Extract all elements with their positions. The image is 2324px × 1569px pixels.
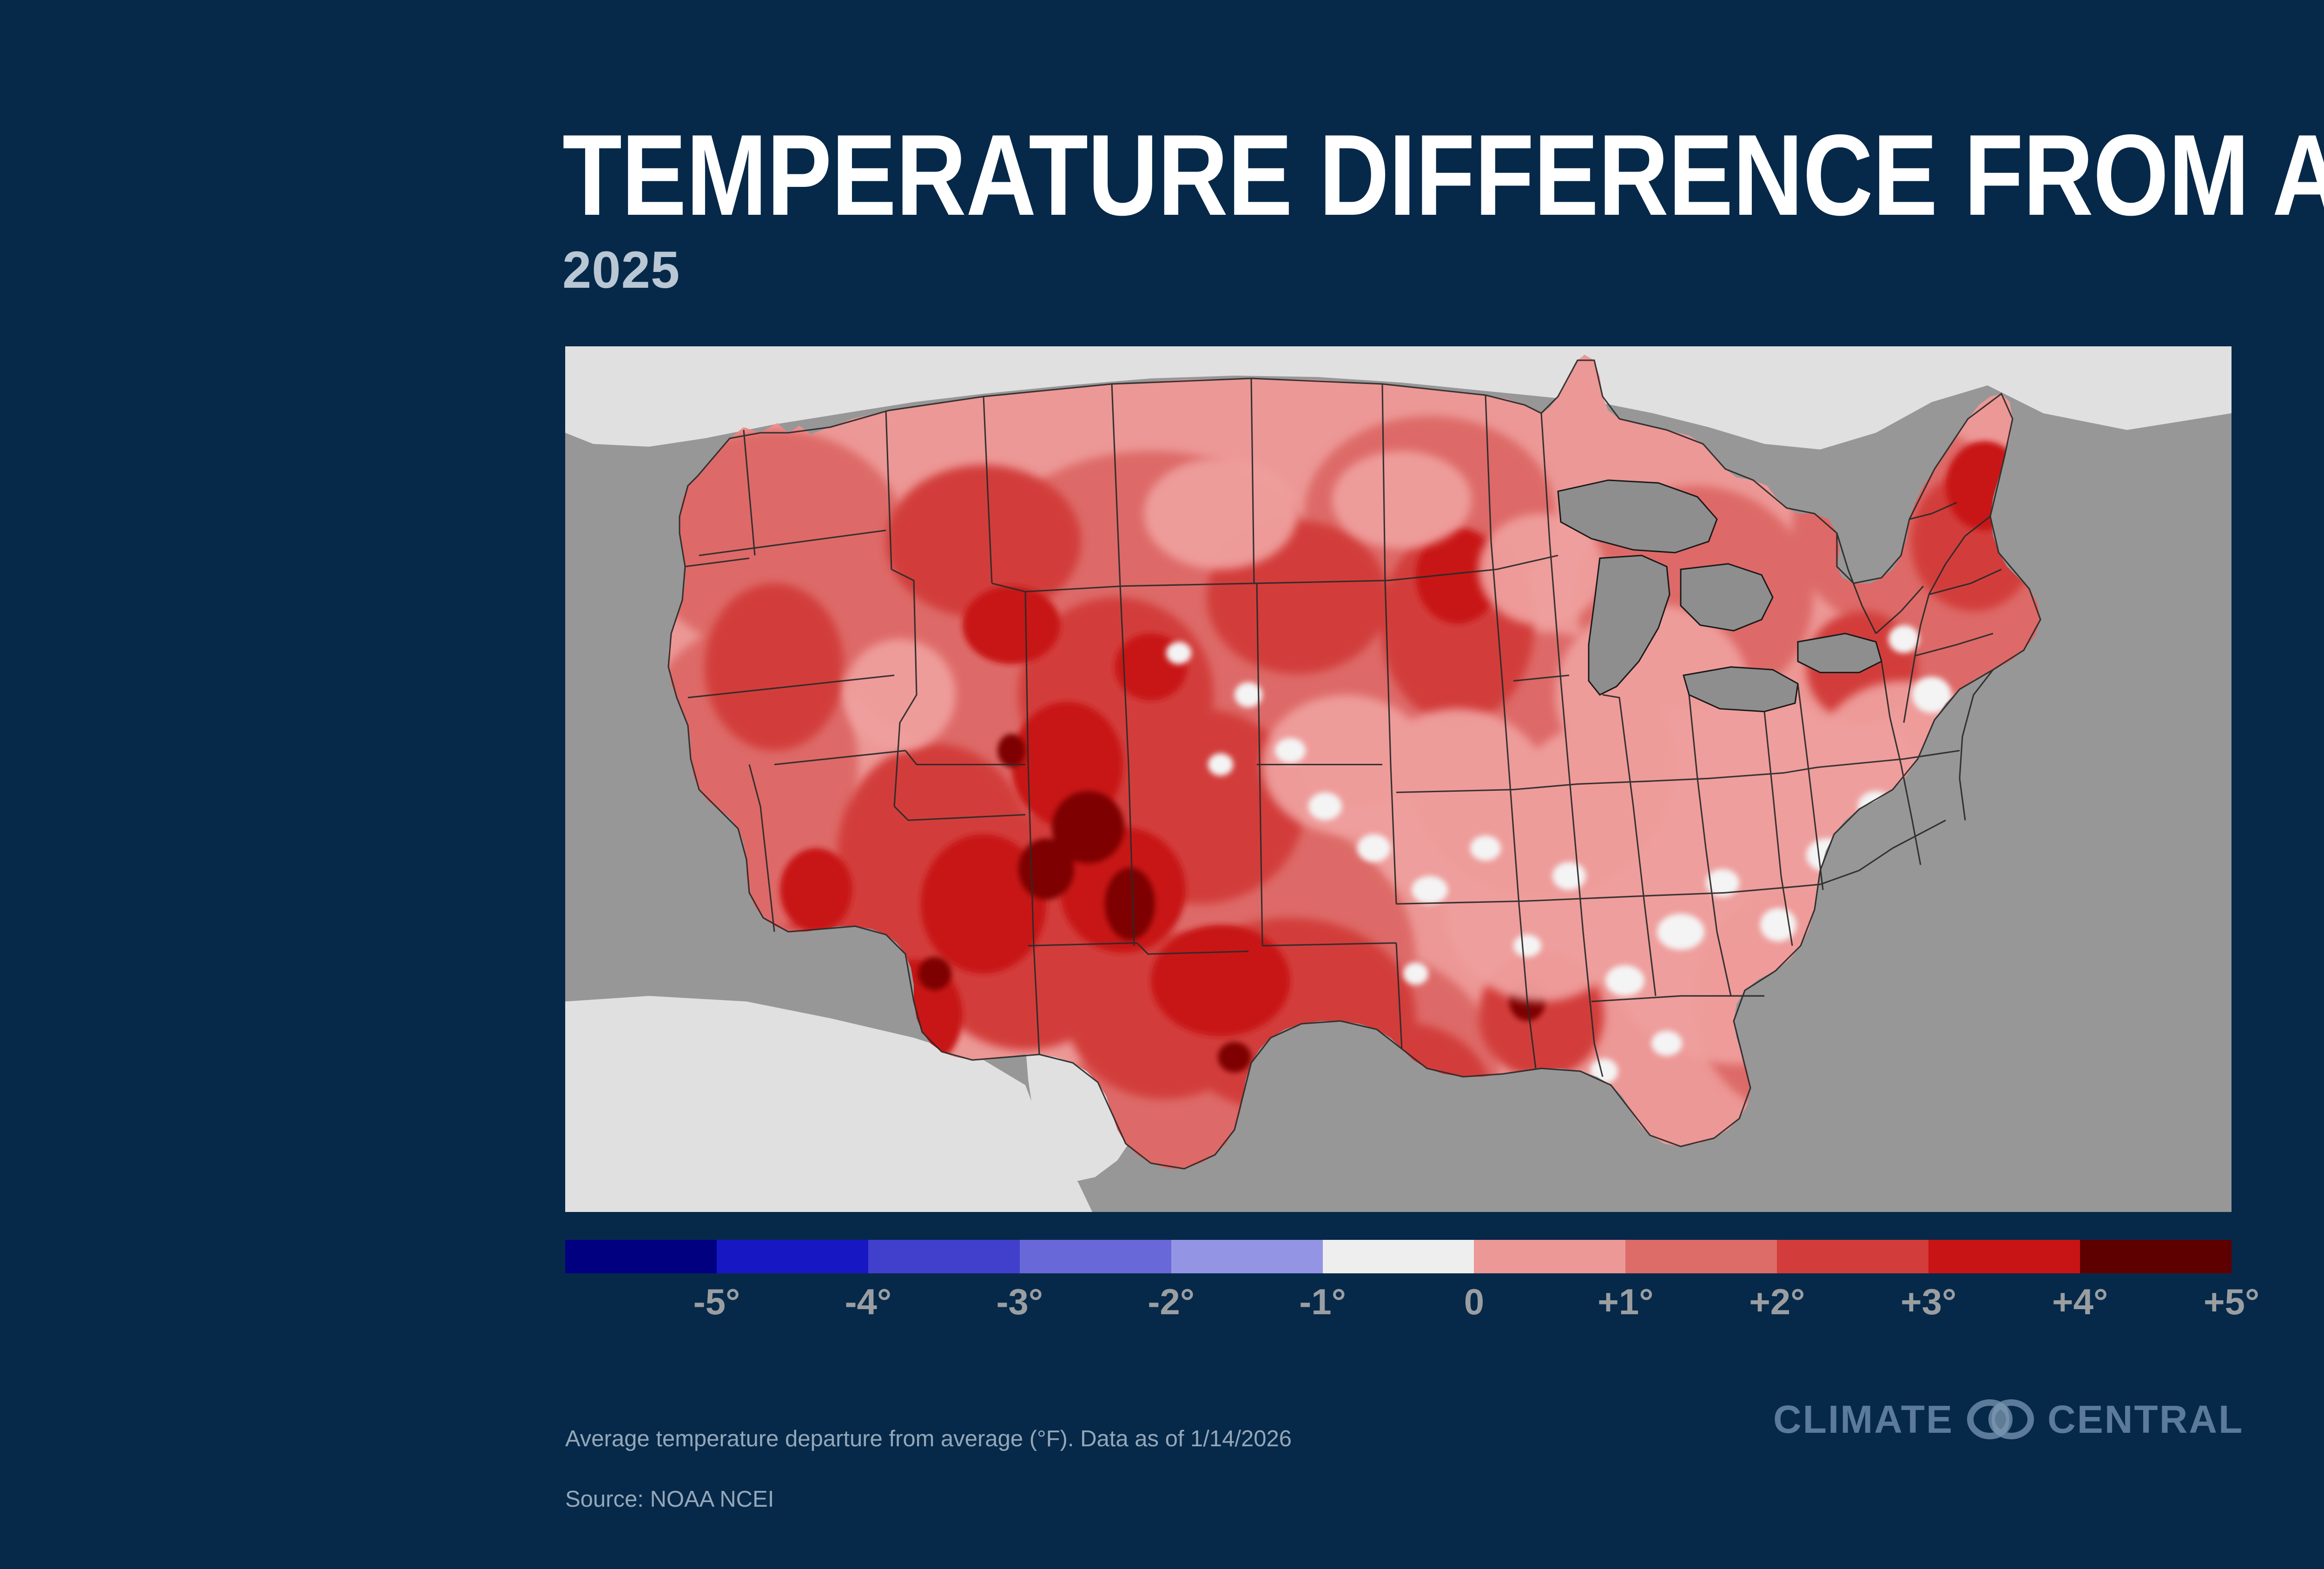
colorbar-swatch-4: [1020, 1240, 1171, 1273]
temperature-anomaly-map: [565, 346, 2232, 1212]
colorbar-tick-plus3: +3°: [1901, 1284, 1956, 1320]
colorbar-swatch-1: [565, 1240, 717, 1273]
infographic-canvas: TEMPERATURE DIFFERENCE FROM AVERAGE, °F …: [0, 0, 2324, 1569]
colorbar-tick-minus3: -3°: [996, 1284, 1043, 1320]
colorbar-tick-plus5: +5°: [2204, 1284, 2259, 1320]
brand-word-climate: CLIMATE: [1773, 1400, 1954, 1439]
colorbar-swatch-10: [1928, 1240, 2080, 1273]
climate-central-logo[interactable]: CLIMATE CENTRAL: [1773, 1399, 2244, 1439]
colorbar-tick-minus4: -4°: [845, 1284, 892, 1320]
colorbar-swatch-6: [1323, 1240, 1474, 1273]
colorbar-tick-plus2: +2°: [1749, 1284, 1805, 1320]
colorbar-tick-plus4: +4°: [2052, 1284, 2108, 1320]
header: TEMPERATURE DIFFERENCE FROM AVERAGE, °F …: [562, 126, 2282, 225]
colorbar-tick-minus5: -5°: [693, 1284, 740, 1320]
colorbar-swatch-5: [1171, 1240, 1323, 1273]
footer-caption-line1: Average temperature departure from avera…: [565, 1424, 1292, 1454]
colorbar-swatch-8: [1625, 1240, 1777, 1273]
page-subtitle: 2025: [562, 244, 680, 296]
colorbar[interactable]: [565, 1240, 2232, 1273]
colorbar-swatch-11: [2080, 1240, 2232, 1273]
colorbar-tick-zero: 0: [1464, 1284, 1484, 1320]
footer-caption-line2: Source: NOAA NCEI: [565, 1484, 1292, 1515]
colorbar-legend: -5° -4° -3° -2° -1° 0 +1° +2° +3° +4° +5…: [565, 1240, 2232, 1328]
colorbar-tick-labels: -5° -4° -3° -2° -1° 0 +1° +2° +3° +4° +5…: [565, 1284, 2232, 1328]
colorbar-swatch-9: [1777, 1240, 1928, 1273]
colorbar-tick-plus1: +1°: [1598, 1284, 1653, 1320]
page-title: TEMPERATURE DIFFERENCE FROM AVERAGE, °F: [562, 126, 2016, 225]
colorbar-swatch-2: [717, 1240, 868, 1273]
brand-word-central: CENTRAL: [2047, 1400, 2244, 1439]
colorbar-tick-minus1: -1°: [1299, 1284, 1346, 1320]
footer-caption: Average temperature departure from avera…: [565, 1394, 1292, 1545]
map-svg: [565, 346, 2232, 1212]
climate-central-rings-icon: [1966, 1399, 2035, 1439]
colorbar-swatch-7: [1474, 1240, 1625, 1273]
colorbar-tick-minus2: -2°: [1148, 1284, 1195, 1320]
colorbar-swatch-3: [868, 1240, 1020, 1273]
